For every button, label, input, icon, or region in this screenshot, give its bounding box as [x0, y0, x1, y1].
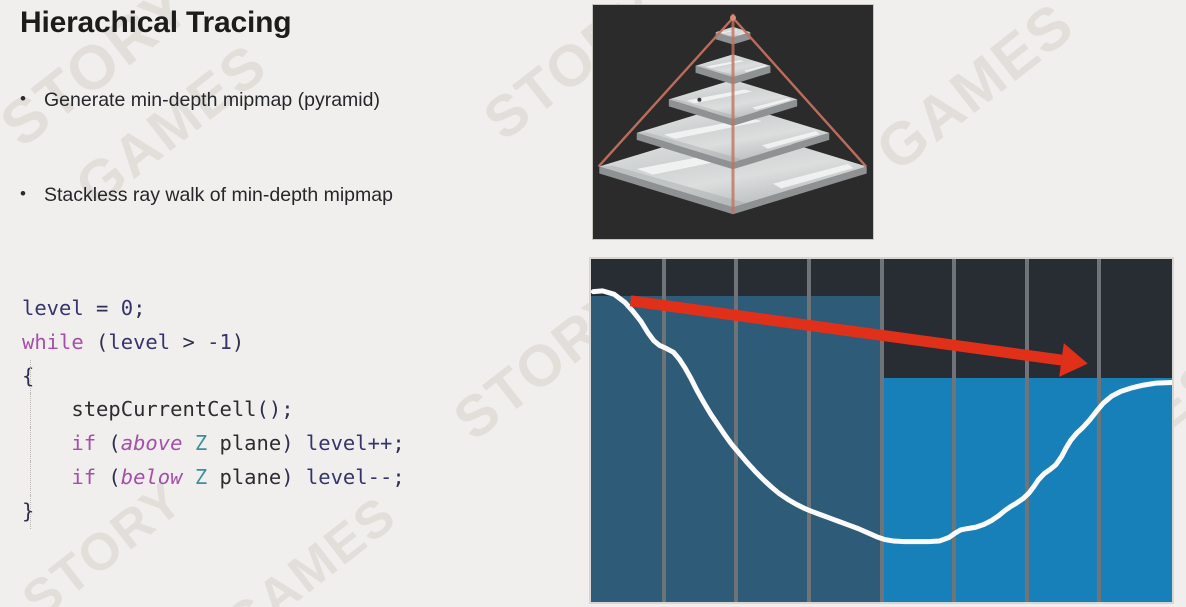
- code-token: ;: [133, 296, 145, 320]
- code-token: level: [22, 296, 84, 320]
- min-depth-trace-figure: [591, 259, 1172, 602]
- slide-canvas: STORY GAMES STORY GAMES STORY STORY GAME…: [0, 0, 1186, 607]
- code-token: (: [84, 330, 109, 354]
- code-token: below: [121, 465, 183, 489]
- indent-guide: [30, 461, 31, 495]
- code-token: ;: [392, 465, 404, 489]
- code-token: above: [121, 431, 183, 455]
- indent-guide: [30, 393, 31, 427]
- code-token: level--: [306, 465, 392, 489]
- bullet-label: Generate min-depth mipmap (pyramid): [44, 88, 380, 113]
- code-token: while: [22, 330, 84, 354]
- code-line: level = 0;: [22, 292, 405, 326]
- code-token: level++: [306, 431, 392, 455]
- code-token: Z: [195, 465, 207, 489]
- trace-overlay-svg: [591, 259, 1172, 602]
- code-line: while (level > -1): [22, 326, 405, 360]
- indent-guide: [30, 427, 31, 461]
- bullet-item: • Generate min-depth mipmap (pyramid): [20, 88, 380, 113]
- pyramid-apex-marker: [730, 15, 736, 21]
- code-line: if (below Z plane) level--;: [22, 461, 405, 495]
- depth-curve: [593, 291, 1172, 542]
- code-token: Z: [195, 431, 207, 455]
- code-token: =: [84, 296, 121, 320]
- pyramid-svg: [593, 5, 873, 239]
- code-token: level: [108, 330, 170, 354]
- code-line: }: [22, 495, 405, 529]
- bullet-item: • Stackless ray walk of min-depth mipmap: [20, 183, 393, 208]
- code-token: }: [22, 499, 34, 523]
- code-token: (: [96, 431, 121, 455]
- code-token: plane: [207, 431, 281, 455]
- render-artifact-dot: [697, 98, 701, 102]
- code-token: >: [170, 330, 207, 354]
- watermark-text: GAMES: [863, 0, 1087, 184]
- mipmap-pyramid-figure: [593, 5, 873, 239]
- ray-arrow-head: [1059, 343, 1088, 377]
- code-line: stepCurrentCell();: [22, 393, 405, 427]
- bullet-label: Stackless ray walk of min-depth mipmap: [44, 183, 393, 208]
- code-token: if: [71, 465, 96, 489]
- code-token: ): [281, 465, 306, 489]
- bullet-marker-icon: •: [20, 88, 44, 110]
- ray-arrow-shaft: [631, 301, 1062, 360]
- indent-guide: [30, 360, 31, 394]
- code-token: 0: [121, 296, 133, 320]
- code-line: {: [22, 360, 405, 394]
- code-token: ): [281, 431, 306, 455]
- bullet-marker-icon: •: [20, 183, 44, 205]
- code-token: plane: [207, 465, 281, 489]
- code-token: [182, 465, 194, 489]
- code-token: (: [96, 465, 121, 489]
- code-token: -1: [207, 330, 232, 354]
- page-title: Hierachical Tracing: [20, 6, 291, 40]
- code-token: if: [71, 431, 96, 455]
- code-line: if (above Z plane) level++;: [22, 427, 405, 461]
- code-block: level = 0;while (level > -1){ stepCurren…: [22, 292, 405, 529]
- code-token: {: [22, 364, 34, 388]
- code-token: ;: [392, 431, 404, 455]
- code-token: stepCurrentCell: [71, 397, 256, 421]
- indent-guide: [30, 495, 31, 529]
- code-token: ();: [257, 397, 294, 421]
- code-token: ): [232, 330, 244, 354]
- code-token: [182, 431, 194, 455]
